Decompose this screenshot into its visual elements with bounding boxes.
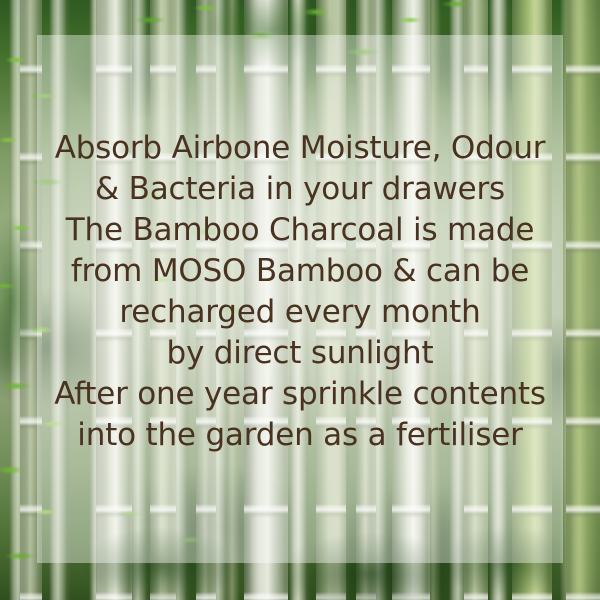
caption-line-6: by direct sunlight	[0, 333, 600, 374]
caption-line-3: The Bamboo Charcoal is made	[0, 210, 600, 251]
caption-line-8: into the garden as a fertiliser	[0, 415, 600, 456]
caption-line-7: After one year sprinkle contents	[0, 374, 600, 415]
caption-line-1: Absorb Airbone Moisture, Odour	[0, 128, 600, 169]
caption-line-4: from MOSO Bamboo & can be	[0, 251, 600, 292]
caption-line-2: & Bacteria in your drawers	[0, 169, 600, 210]
product-description-text: Absorb Airbone Moisture, Odour & Bacteri…	[0, 128, 600, 456]
caption-line-5: recharged every month	[0, 292, 600, 333]
infographic-canvas: Absorb Airbone Moisture, Odour & Bacteri…	[0, 0, 600, 600]
